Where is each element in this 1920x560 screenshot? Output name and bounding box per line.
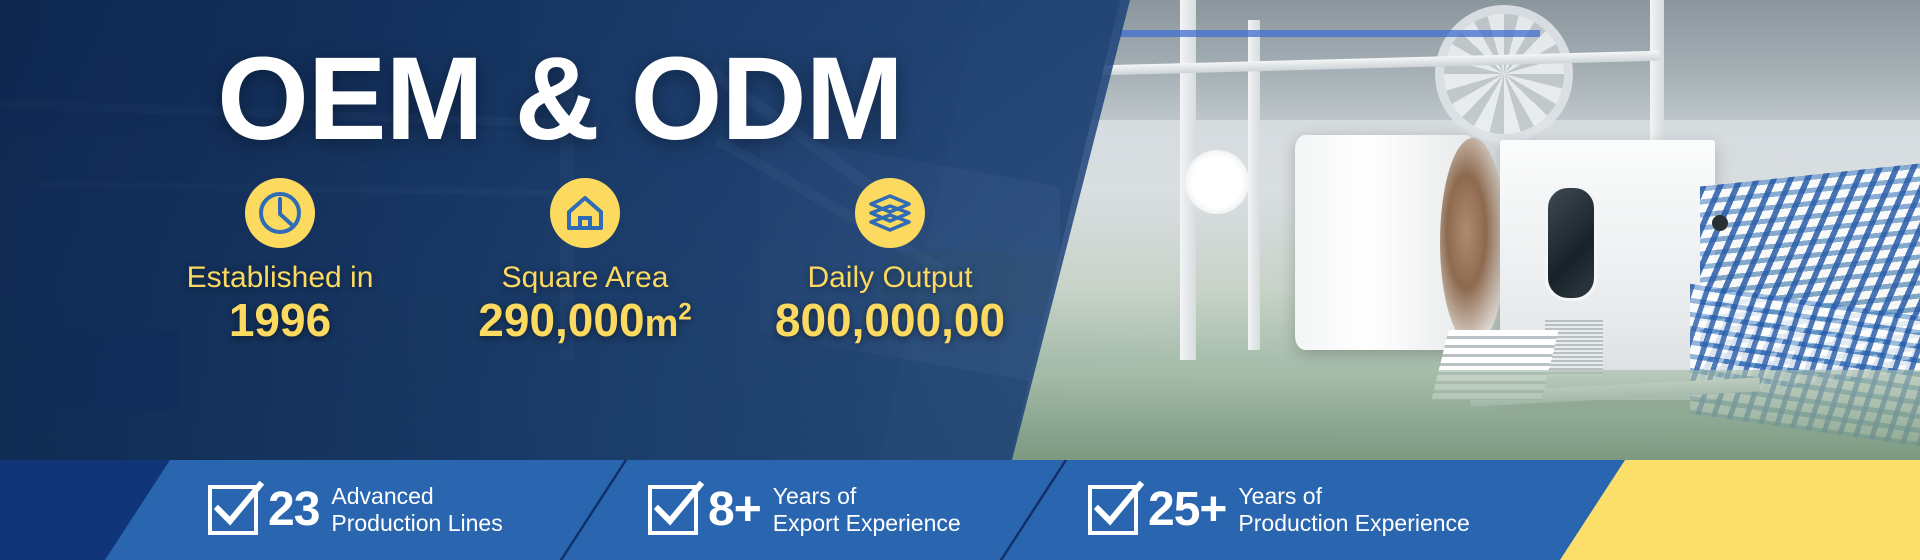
photo-cabinet-window xyxy=(1545,185,1597,301)
bottom-item-number: 23 xyxy=(268,486,319,534)
photo-roller-hub xyxy=(1712,215,1728,231)
clock-icon xyxy=(245,178,315,248)
bottom-item-production-experience: 25+ Years of Production Experience xyxy=(1088,483,1470,537)
checkbox-checked-icon xyxy=(208,485,258,535)
photo-frame-post xyxy=(1650,0,1664,150)
bottom-item-text: Years of Production Experience xyxy=(1238,483,1469,537)
bottom-item-text: Advanced Production Lines xyxy=(331,483,502,537)
bottom-highlight-bar: 23 Advanced Production Lines 8+ Years of… xyxy=(0,460,1920,560)
bottom-item-line1: Years of xyxy=(773,483,857,509)
bottom-item-export-experience: 8+ Years of Export Experience xyxy=(648,483,961,537)
bottom-item-production-lines: 23 Advanced Production Lines xyxy=(208,483,503,537)
stat-label: Daily Output xyxy=(740,262,1040,294)
photo-floor-reflection xyxy=(1000,370,1920,460)
bottom-item-text: Years of Export Experience xyxy=(773,483,961,537)
bottom-item-number: 8+ xyxy=(708,486,761,534)
bottom-item-number: 25+ xyxy=(1148,486,1226,534)
bottom-item-line1: Years of xyxy=(1238,483,1322,509)
bottom-item-line1: Advanced xyxy=(331,483,433,509)
stat-label: Square Area xyxy=(435,262,735,294)
checkbox-checked-icon xyxy=(1088,485,1138,535)
bottom-bar-items: 23 Advanced Production Lines 8+ Years of… xyxy=(0,460,1560,560)
stat-value: 1996 xyxy=(130,296,430,346)
stat-number: 800,000,00 xyxy=(775,294,1005,346)
bottom-item-line2: Export Experience xyxy=(773,510,961,536)
bottom-item-line2: Production Experience xyxy=(1238,510,1469,536)
stat-unit: m xyxy=(645,303,679,345)
stat-daily-output: Daily Output 800,000,00 xyxy=(740,178,1040,345)
photo-blue-pipe xyxy=(1120,30,1540,37)
home-icon xyxy=(550,178,620,248)
stats-row: Established in 1996 Square Area 290,000m… xyxy=(130,178,1040,345)
stat-label: Established in xyxy=(130,262,430,294)
stat-value: 290,000m2 xyxy=(435,296,735,346)
stat-unit-superscript: 2 xyxy=(678,298,691,325)
photo-small-roll xyxy=(1185,150,1249,214)
stat-square-area: Square Area 290,000m2 xyxy=(435,178,735,345)
checkbox-checked-icon xyxy=(648,485,698,535)
photo-roll-end xyxy=(1440,138,1506,346)
layers-icon xyxy=(855,178,925,248)
stat-number: 1996 xyxy=(229,294,331,346)
photo-large-wheel xyxy=(1435,5,1573,143)
stat-number: 290,000 xyxy=(478,294,644,346)
page-title: OEM & ODM xyxy=(0,40,1120,158)
oem-odm-banner: OEM & ODM Established in 1996 Squa xyxy=(0,0,1920,560)
stat-value: 800,000,00 xyxy=(740,296,1040,346)
bottom-item-line2: Production Lines xyxy=(331,510,502,536)
stat-established: Established in 1996 xyxy=(130,178,430,345)
